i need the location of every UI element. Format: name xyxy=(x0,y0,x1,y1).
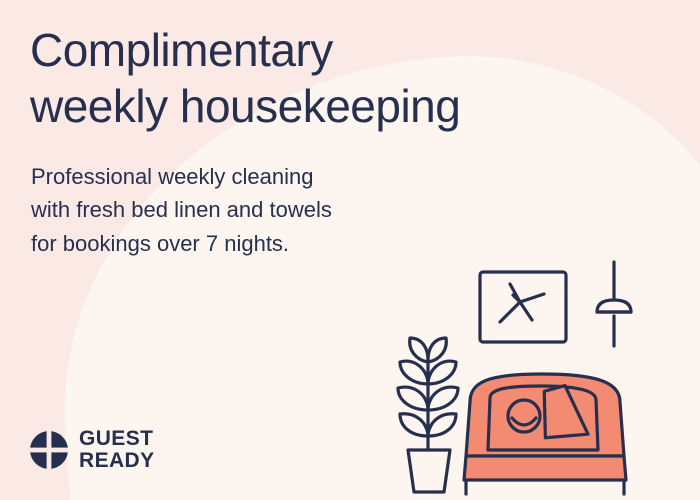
headline-line-2: weekly housekeeping xyxy=(30,78,650,134)
guestready-logo-mark-icon xyxy=(30,431,68,469)
subhead-line-1: Professional weekly cleaning xyxy=(31,160,461,193)
framed-picture-icon xyxy=(480,272,566,342)
living-room-illustration xyxy=(392,250,692,500)
headline-line-1: Complimentary xyxy=(30,22,650,78)
potted-plant-icon xyxy=(398,338,458,492)
brand-logo-text: GUEST READY xyxy=(79,428,155,472)
subhead-line-2: with fresh bed linen and towels xyxy=(31,193,461,226)
promo-card: Complimentary weekly housekeeping Profes… xyxy=(0,0,700,500)
brand-logo-line-1: GUEST xyxy=(79,428,155,450)
subheading: Professional weekly cleaning with fresh … xyxy=(31,160,461,260)
sofa-icon xyxy=(464,374,626,494)
brand-logo-line-2: READY xyxy=(79,450,155,472)
brand-logo: GUEST READY xyxy=(30,428,155,472)
floor-lamp-icon xyxy=(597,262,631,346)
page-title: Complimentary weekly housekeeping xyxy=(30,22,650,134)
